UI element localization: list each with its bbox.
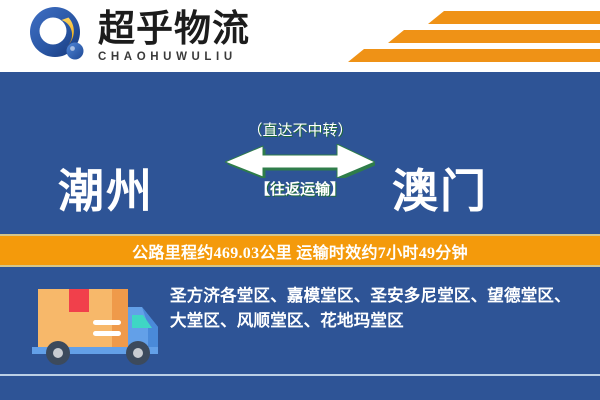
distance-duration-text: 公路里程约469.03公里 运输时效约7小时49分钟 (132, 239, 468, 263)
route-middle-group: （直达不中转） 【往返运输】 (225, 122, 375, 199)
circular-q-logo-icon (28, 6, 90, 68)
speed-stripes-icon (344, 11, 600, 65)
stripe-2 (388, 30, 600, 43)
district-list: 圣方济各堂区、嘉模堂区、圣安多尼堂区、望德堂区、大堂区、风顺堂区、花地玛堂区 (170, 283, 582, 333)
round-trip-note: 【往返运输】 (225, 181, 375, 199)
banner-footer (0, 374, 600, 400)
brand-name-pinyin: CHAOHUWULIU (98, 51, 250, 64)
route-info-bar: 公路里程约469.03公里 运输时效约7小时49分钟 (0, 234, 600, 267)
brand-logo: 超乎物流 CHAOHUWULIU (28, 6, 250, 68)
delivery-truck-icon (22, 277, 170, 365)
banner-header: 超乎物流 CHAOHUWULIU (0, 0, 600, 72)
bidirectional-arrow-icon (225, 144, 375, 178)
origin-city: 潮州 (58, 167, 154, 217)
stripe-3 (348, 49, 600, 62)
brand-text: 超乎物流 CHAOHUWULIU (98, 10, 250, 64)
stripe-1 (428, 11, 600, 24)
coverage-panel: 圣方济各堂区、嘉模堂区、圣安多尼堂区、望德堂区、大堂区、风顺堂区、花地玛堂区 (0, 267, 600, 374)
direct-shipping-note: （直达不中转） (225, 122, 375, 140)
destination-city: 澳门 (392, 167, 488, 217)
route-panel: 潮州 （直达不中转） 【往返运输】 澳门 (0, 72, 600, 234)
logistics-route-banner: 超乎物流 CHAOHUWULIU 潮州 （直达不中转） 【往返运输】 (0, 0, 600, 400)
brand-name-cn: 超乎物流 (98, 10, 250, 50)
